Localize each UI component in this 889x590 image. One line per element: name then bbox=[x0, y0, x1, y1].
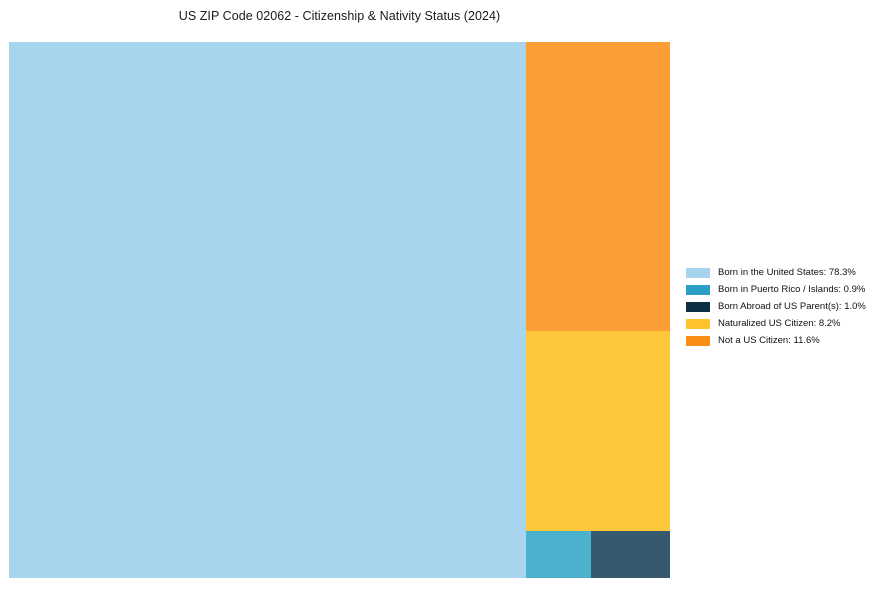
treemap-tile-born-in-the-united-states[interactable] bbox=[9, 42, 526, 578]
legend-item-born-abroad-of-us-parents[interactable]: Born Abroad of US Parent(s): 1.0% bbox=[686, 298, 882, 315]
legend-item-label: Born Abroad of US Parent(s): 1.0% bbox=[718, 302, 866, 312]
chart-title: US ZIP Code 02062 - Citizenship & Nativi… bbox=[0, 9, 679, 23]
legend-item-label: Born in the United States: 78.3% bbox=[718, 268, 856, 278]
legend-item-not-a-us-citizen[interactable]: Not a US Citizen: 11.6% bbox=[686, 332, 882, 349]
treemap-tile-not-a-us-citizen[interactable] bbox=[526, 42, 670, 331]
treemap-tile-born-abroad-of-us-parents[interactable] bbox=[591, 531, 670, 578]
chart-legend: Born in the United States: 78.3% Born in… bbox=[686, 264, 882, 349]
legend-item-label: Not a US Citizen: 11.6% bbox=[718, 336, 820, 346]
legend-item-naturalized-us-citizen[interactable]: Naturalized US Citizen: 8.2% bbox=[686, 315, 882, 332]
legend-item-born-in-the-united-states[interactable]: Born in the United States: 78.3% bbox=[686, 264, 882, 281]
legend-swatch-icon bbox=[686, 336, 710, 346]
legend-item-label: Born in Puerto Rico / Islands: 0.9% bbox=[718, 285, 865, 295]
treemap-chart-page: US ZIP Code 02062 - Citizenship & Nativi… bbox=[0, 0, 889, 590]
legend-swatch-icon bbox=[686, 285, 710, 295]
treemap-tile-naturalized-us-citizen[interactable] bbox=[526, 331, 670, 531]
treemap-plot-area bbox=[9, 42, 670, 578]
legend-swatch-icon bbox=[686, 319, 710, 329]
legend-item-label: Naturalized US Citizen: 8.2% bbox=[718, 319, 841, 329]
legend-item-born-in-puerto-rico-islands[interactable]: Born in Puerto Rico / Islands: 0.9% bbox=[686, 281, 882, 298]
legend-swatch-icon bbox=[686, 268, 710, 278]
treemap-tile-born-in-puerto-rico-islands[interactable] bbox=[526, 531, 591, 578]
legend-swatch-icon bbox=[686, 302, 710, 312]
